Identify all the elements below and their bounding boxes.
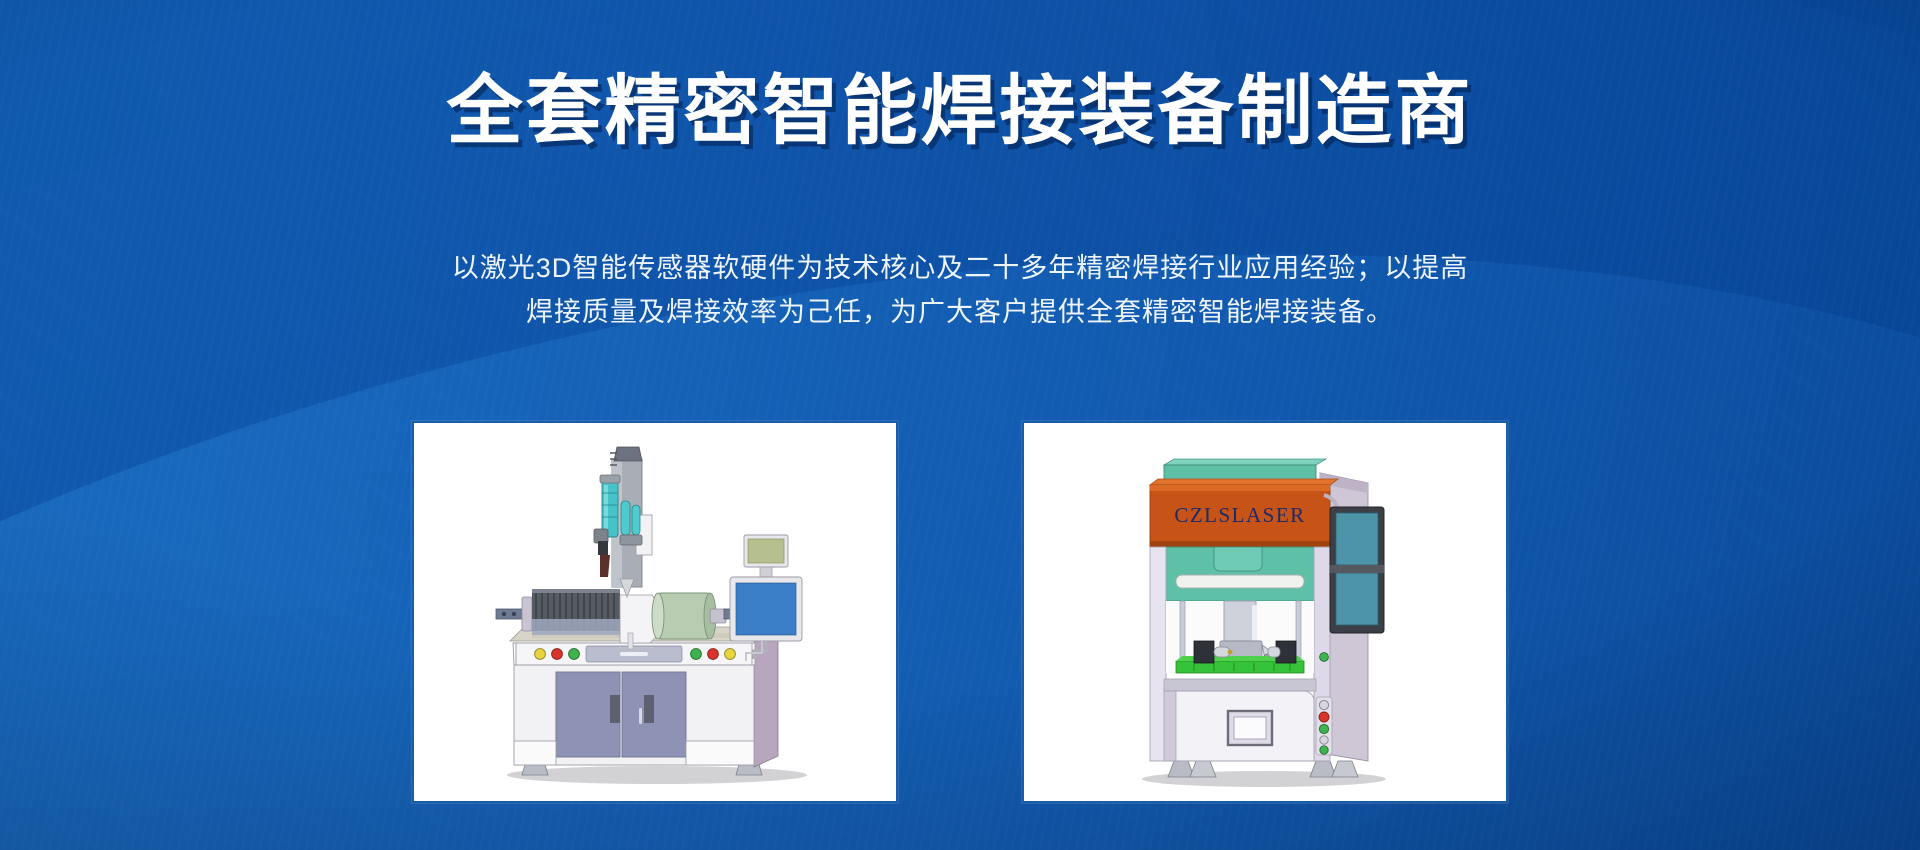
czlslaser-welding-station-illustration: CZLSLASER [1024,423,1506,801]
rotary-laser-welding-machine-illustration [414,423,896,801]
product-image-card-czlslaser-station[interactable]: CZLSLASER [1022,421,1508,803]
product-image-card-rotary-welder[interactable]: 精密旋转激光焊接机 [412,421,898,803]
brand-label: CZLSLASER [1174,503,1305,527]
page-title: 全套精密智能焊接装备制造商 [447,74,1474,150]
product-gallery: 精密旋转激光焊接机 [372,405,1548,819]
subcopy-line-1: 以激光3D智能传感器软硬件为技术核心及二十多年精密焊接行业应用经验；以提高 [405,247,1515,291]
promo-banner: 全套精密智能焊接装备制造商 以激光3D智能传感器软硬件为技术核心及二十多年精密焊… [0,0,1920,850]
subcopy-line-2: 焊接质量及焊接效率为己任，为广大客户提供全套精密智能焊接装备。 [405,291,1515,335]
banner-subcopy: 以激光3D智能传感器软硬件为技术核心及二十多年精密焊接行业应用经验；以提高 焊接… [405,247,1515,334]
banner-content: 全套精密智能焊接装备制造商 以激光3D智能传感器软硬件为技术核心及二十多年精密焊… [0,0,1920,850]
